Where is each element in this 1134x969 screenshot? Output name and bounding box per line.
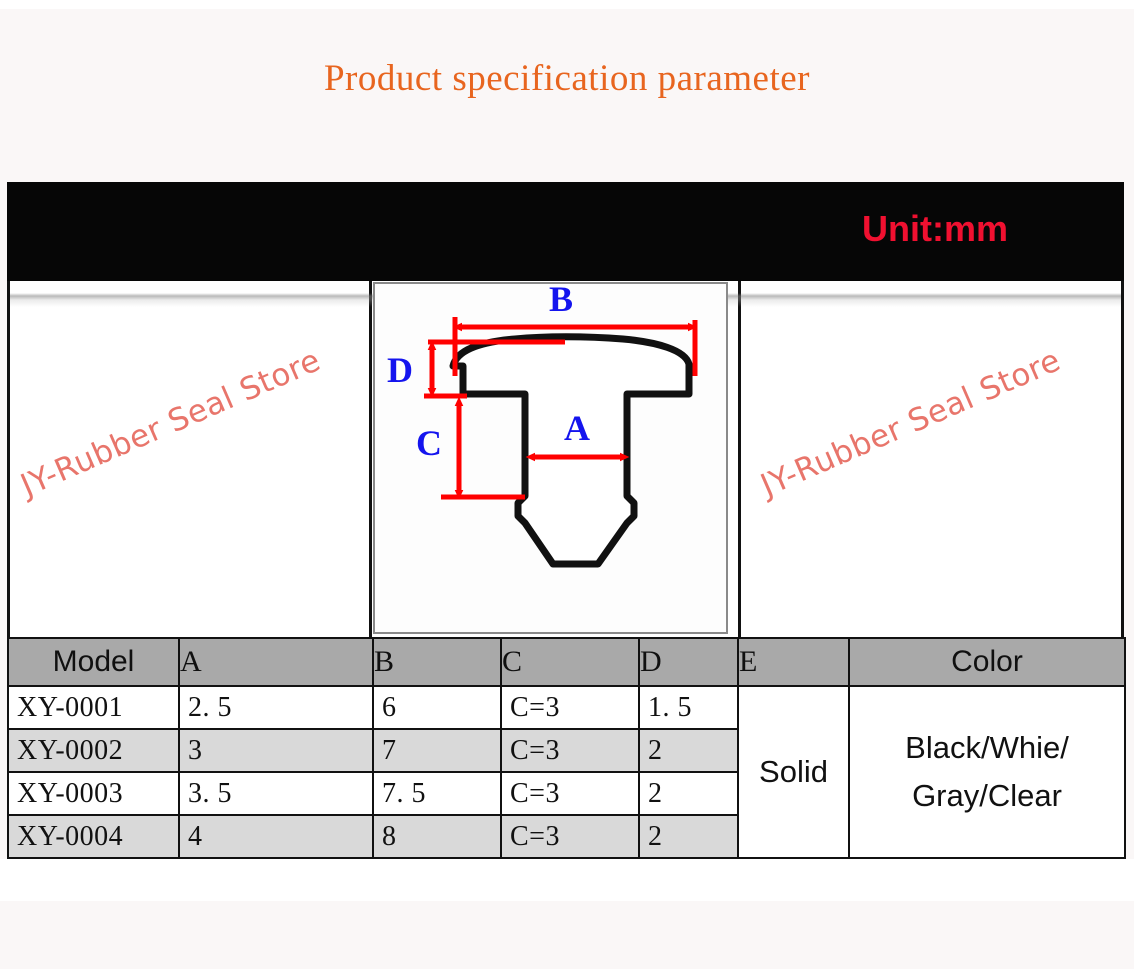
- cell-d: 2: [639, 772, 738, 815]
- cell-b: 7: [373, 729, 501, 772]
- cell-model: XY-0004: [8, 815, 179, 858]
- table-row: XY-0001 2. 5 6 C=3 1. 5 Solid Black/Whie…: [8, 686, 1125, 729]
- table-header-row: Model A B C D E Color: [8, 638, 1125, 686]
- label-d: D: [387, 350, 413, 390]
- cell-b: 7. 5: [373, 772, 501, 815]
- cell-c: C=3: [501, 815, 639, 858]
- cell-d: 2: [639, 815, 738, 858]
- cell-model: XY-0001: [8, 686, 179, 729]
- bottom-white-band: [0, 859, 1134, 901]
- col-header-color[interactable]: Color: [849, 638, 1125, 686]
- cell-c: C=3: [501, 772, 639, 815]
- color-line-2: Gray/Clear: [850, 772, 1124, 820]
- cell-b: 8: [373, 815, 501, 858]
- cell-a: 3. 5: [179, 772, 373, 815]
- seal-profile-svg: B D C A: [375, 284, 726, 632]
- cell-model: XY-0002: [8, 729, 179, 772]
- cell-c: C=3: [501, 729, 639, 772]
- col-header-b[interactable]: B: [373, 638, 501, 686]
- col-header-c[interactable]: C: [501, 638, 639, 686]
- label-a: A: [564, 408, 590, 448]
- cell-d: 2: [639, 729, 738, 772]
- cell-c: C=3: [501, 686, 639, 729]
- specification-table: Model A B C D E Color XY-0001 2. 5 6 C=3…: [7, 637, 1126, 859]
- band-divider-right: [738, 281, 741, 637]
- cross-section-diagram: B D C A: [373, 282, 728, 634]
- product-spec-page: Product specification parameter Unit:mm …: [0, 0, 1134, 969]
- dimension-c: [441, 405, 525, 497]
- cell-color-merged: Black/Whie/ Gray/Clear: [849, 686, 1125, 858]
- seal-outline: [453, 337, 689, 564]
- cell-a: 2. 5: [179, 686, 373, 729]
- cell-e-merged: Solid: [738, 686, 849, 858]
- cell-d: 1. 5: [639, 686, 738, 729]
- top-white-strip: [0, 0, 1134, 9]
- col-header-e[interactable]: E: [738, 638, 849, 686]
- cell-b: 6: [373, 686, 501, 729]
- page-title: Product specification parameter: [0, 57, 1134, 100]
- col-header-d[interactable]: D: [639, 638, 738, 686]
- col-header-a[interactable]: A: [179, 638, 373, 686]
- label-b: B: [549, 284, 573, 319]
- col-header-model[interactable]: Model: [8, 638, 179, 686]
- band-divider-left: [369, 281, 372, 637]
- cell-model: XY-0003: [8, 772, 179, 815]
- color-line-1: Black/Whie/: [850, 724, 1124, 772]
- unit-label: Unit:mm: [862, 208, 1008, 250]
- cell-a: 4: [179, 815, 373, 858]
- unit-banner: Unit:mm: [7, 182, 1124, 281]
- label-c: C: [416, 423, 442, 463]
- cell-a: 3: [179, 729, 373, 772]
